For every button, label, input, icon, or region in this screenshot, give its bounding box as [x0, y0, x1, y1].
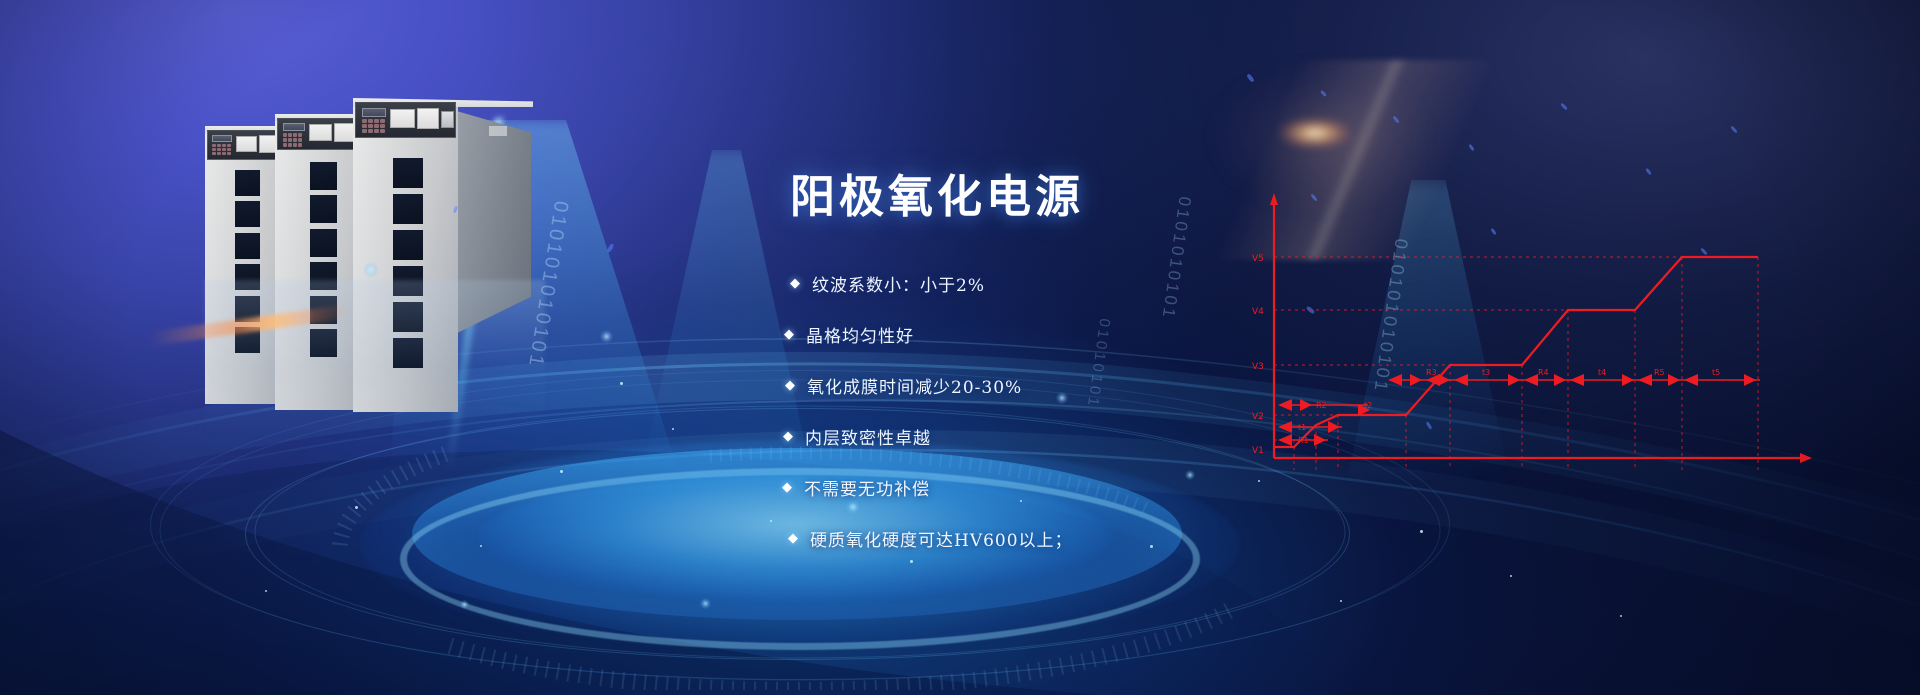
diamond-bullet-icon: ◆: [784, 327, 795, 342]
cabinet-3-vent-1: [393, 158, 423, 188]
cabinet-2-vent-3: [310, 229, 337, 257]
cabinet-3-lcd: [362, 108, 386, 117]
diamond-bullet-icon: ◆: [790, 276, 801, 291]
seglabel-t3: t3: [1482, 368, 1490, 377]
particle-glow-1: [363, 262, 379, 278]
feature-item-1: ◆ 纹波系数小：小于2%: [790, 271, 1440, 296]
particle-glow-7: [460, 600, 469, 609]
feature-text-5: 不需要无功补偿: [804, 475, 930, 500]
cabinet-1-vent-2: [235, 201, 260, 227]
particle-4: [770, 520, 772, 522]
cabinet-reflection: [205, 280, 545, 440]
cabinet-3-vent-2: [393, 194, 423, 224]
particle-1: [620, 382, 623, 385]
diamond-bullet-icon: ◆: [783, 429, 794, 444]
particle-13: [1510, 575, 1512, 577]
cabinet-1-vent-1: [235, 170, 260, 196]
seglabel-r4: R4: [1538, 368, 1549, 377]
particle-glow-2: [600, 330, 613, 343]
power-cabinet-group: [205, 100, 595, 430]
page-title: 阳极氧化电源: [790, 160, 1440, 225]
particle-glow-4: [700, 598, 711, 609]
diagram-x-arrow: [1800, 453, 1812, 463]
feature-item-3: ◆ 氧化成膜时间减少20-30%: [785, 373, 1440, 398]
particle-10: [355, 506, 358, 509]
cabinet-2-lcd: [283, 123, 305, 131]
cabinet-2-label-plate-b: [334, 123, 355, 142]
feature-text-3: 氧化成膜时间减少20-30%: [807, 373, 1022, 398]
feature-item-4: ◆ 内层致密性卓越: [783, 424, 1440, 449]
feature-item-6: ◆ 硬质氧化硬度可达HV600以上；: [788, 526, 1440, 551]
cabinet-3-warning-label: [489, 126, 507, 136]
feature-list: ◆ 纹波系数小：小于2% ◆ 晶格均匀性好 ◆ 氧化成膜时间减少20-30% ◆…: [790, 271, 1440, 551]
cabinet-3-label-plate-b: [417, 108, 439, 129]
cabinet-3-keypad: [362, 119, 385, 133]
particle-11: [1340, 600, 1342, 602]
diamond-bullet-icon: ◆: [782, 480, 793, 495]
feature-text-1: 纹波系数小：小于2%: [812, 271, 985, 296]
particle-9: [480, 545, 482, 547]
feature-item-5: ◆ 不需要无功补偿: [782, 475, 1440, 500]
cabinet-3-meter: [441, 111, 454, 128]
cabinet-3-label-plate-a: [390, 109, 415, 128]
cabinet-1-keypad: [212, 144, 231, 155]
particle-2: [672, 428, 674, 430]
diamond-bullet-icon: ◆: [785, 378, 796, 393]
lens-flare-core: [1280, 118, 1350, 148]
cabinet-2-keypad: [283, 133, 302, 147]
feature-text-6: 硬质氧化硬度可达HV600以上；: [810, 526, 1073, 551]
seglabel-r5: R5: [1654, 368, 1665, 377]
cabinet-2-vent-1: [310, 162, 337, 190]
diamond-bullet-icon: ◆: [788, 531, 799, 546]
particle-14: [265, 590, 267, 592]
cabinet-2-label-plate-a: [309, 124, 332, 141]
particle-15: [1620, 615, 1622, 617]
feature-item-2: ◆ 晶格均匀性好: [784, 322, 1440, 347]
cabinet-1-lcd: [212, 135, 232, 142]
cabinet-1-label-plate-a: [236, 136, 257, 152]
seglabel-t5: t5: [1712, 368, 1720, 377]
seglabel-t4: t4: [1598, 368, 1606, 377]
cabinet-3-vent-3: [393, 230, 423, 260]
cabinet-3-control-panel: [355, 102, 456, 138]
banner-root: 010101010101 0101010101 010101010101 010…: [0, 0, 1920, 695]
feature-text-2: 晶格均匀性好: [806, 322, 914, 347]
cabinet-1-vent-3: [235, 233, 260, 259]
feature-text-4: 内层致密性卓越: [805, 424, 931, 449]
content-block: 阳极氧化电源 ◆ 纹波系数小：小于2% ◆ 晶格均匀性好 ◆ 氧化成膜时间减少2…: [790, 160, 1440, 577]
cabinet-2-vent-2: [310, 195, 337, 223]
particle-3: [560, 470, 563, 473]
